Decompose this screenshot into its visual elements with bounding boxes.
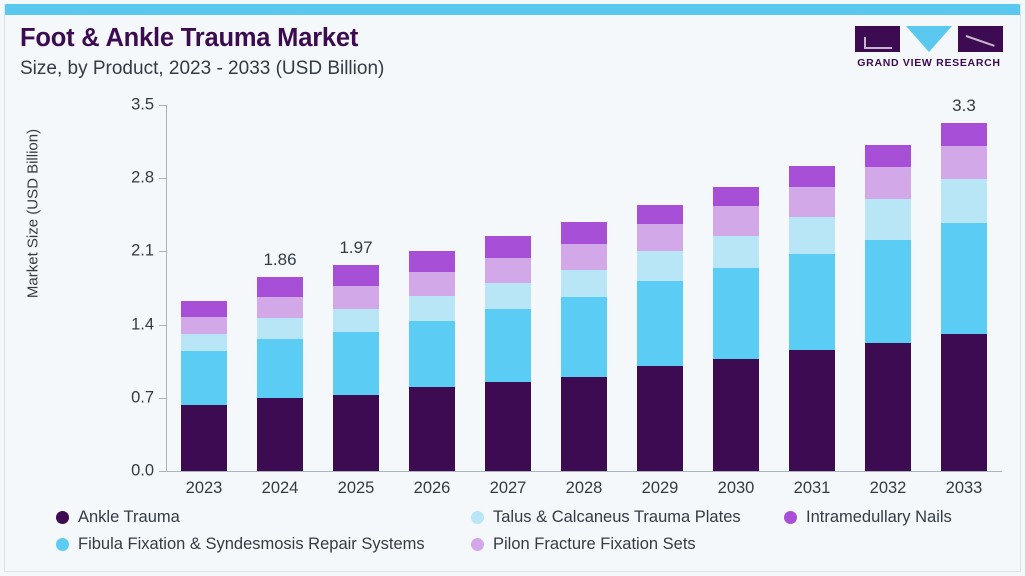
legend-item-label: Talus & Calcaneus Trauma Plates (493, 508, 741, 527)
bar-segment[interactable] (637, 251, 683, 280)
y-axis-tick-mark (159, 178, 166, 179)
bar-segment[interactable] (409, 321, 455, 387)
x-axis-tick-label: 2029 (642, 479, 679, 498)
legend-color-swatch-icon (471, 538, 484, 551)
x-axis-line (166, 471, 1002, 472)
legend-item-label: Pilon Fracture Fixation Sets (493, 535, 696, 554)
stacked-bar[interactable] (789, 166, 835, 471)
legend-item-label: Ankle Trauma (78, 508, 180, 527)
legend-item[interactable]: Intramedullary Nails (784, 508, 952, 527)
x-axis-tick-label: 2032 (870, 479, 907, 498)
stacked-bar[interactable] (409, 251, 455, 471)
bar-segment[interactable] (333, 265, 379, 286)
legend-item[interactable]: Ankle Trauma (56, 508, 180, 527)
y-axis-tick-mark (159, 105, 166, 106)
x-axis-tick-label: 2026 (414, 479, 451, 498)
bar-segment[interactable] (409, 272, 455, 296)
y-axis-tick-label: 0.0 (106, 462, 154, 481)
bar-segment[interactable] (637, 205, 683, 224)
bar-segment[interactable] (257, 277, 303, 298)
bar-segment[interactable] (485, 283, 531, 309)
legend-item-label: Intramedullary Nails (806, 508, 952, 527)
bar-segment[interactable] (941, 123, 987, 146)
x-axis-tick-label: 2028 (566, 479, 603, 498)
bar-segment[interactable] (789, 254, 835, 350)
legend-item[interactable]: Pilon Fracture Fixation Sets (471, 535, 696, 554)
y-axis-tick-label: 0.7 (106, 388, 154, 407)
legend-color-swatch-icon (784, 511, 797, 524)
bar-segment[interactable] (789, 217, 835, 254)
bar-value-label: 1.97 (339, 238, 372, 258)
infographic-root: Foot & Ankle Trauma Market Size, by Prod… (0, 0, 1025, 576)
bar-segment[interactable] (561, 244, 607, 270)
stacked-bar[interactable] (181, 301, 227, 471)
bar-segment[interactable] (333, 309, 379, 332)
legend-item-label: Fibula Fixation & Syndesmosis Repair Sys… (78, 535, 425, 554)
bar-segment[interactable] (941, 146, 987, 179)
stacked-bar[interactable] (865, 145, 911, 471)
bar-segment[interactable] (409, 296, 455, 321)
bar-segment[interactable] (865, 167, 911, 199)
x-axis-tick-label: 2030 (718, 479, 755, 498)
bar-value-label: 3.3 (952, 96, 976, 116)
y-axis-tick-mark (159, 398, 166, 399)
bar-segment[interactable] (713, 268, 759, 359)
legend-color-swatch-icon (471, 511, 484, 524)
bar-segment[interactable] (181, 405, 227, 471)
x-axis-tick-label: 2031 (794, 479, 831, 498)
bar-segment[interactable] (637, 224, 683, 251)
x-axis-tick-label: 2033 (946, 479, 983, 498)
bar-segment[interactable] (333, 286, 379, 309)
bar-segment[interactable] (789, 166, 835, 187)
stacked-bar[interactable] (561, 222, 607, 471)
x-axis-tick-label: 2027 (490, 479, 527, 498)
stacked-bar[interactable] (713, 187, 759, 471)
bar-segment[interactable] (941, 334, 987, 471)
y-axis-tick-label: 3.5 (106, 96, 154, 115)
bar-segment[interactable] (333, 332, 379, 395)
y-axis-tick-label: 1.4 (106, 315, 154, 334)
bar-segment[interactable] (257, 398, 303, 471)
bar-segment[interactable] (485, 258, 531, 283)
y-axis-tick-mark (159, 251, 166, 252)
bar-value-label: 1.86 (263, 250, 296, 270)
y-axis-tick-mark (159, 471, 166, 472)
stacked-bar[interactable] (637, 205, 683, 471)
bar-segment[interactable] (941, 179, 987, 223)
bar-segment[interactable] (941, 223, 987, 334)
bar-segment[interactable] (561, 270, 607, 297)
bar-segment[interactable] (485, 309, 531, 382)
legend-color-swatch-icon (56, 511, 69, 524)
bar-segment[interactable] (181, 334, 227, 351)
stacked-bar[interactable]: 1.86 (257, 277, 303, 471)
y-axis-tick-label: 2.8 (106, 169, 154, 188)
bar-segment[interactable] (257, 318, 303, 339)
y-axis-title: Market Size (USD Billion) (25, 89, 42, 339)
bar-segment[interactable] (865, 199, 911, 240)
bar-segment[interactable] (561, 377, 607, 471)
y-axis-tick-mark (159, 325, 166, 326)
bar-segment[interactable] (485, 382, 531, 471)
stacked-bar[interactable] (485, 236, 531, 471)
x-axis-tick-label: 2024 (262, 479, 299, 498)
bar-segment[interactable] (713, 187, 759, 207)
x-axis-tick-label: 2025 (338, 479, 375, 498)
legend-item[interactable]: Fibula Fixation & Syndesmosis Repair Sys… (56, 535, 425, 554)
bar-segment[interactable] (713, 206, 759, 235)
bar-segment[interactable] (181, 317, 227, 334)
bar-segment[interactable] (257, 297, 303, 318)
bar-segment[interactable] (409, 251, 455, 272)
bar-segment[interactable] (789, 187, 835, 217)
bar-segment[interactable] (409, 387, 455, 471)
x-axis-tick-label: 2023 (186, 479, 223, 498)
bar-segment[interactable] (637, 281, 683, 367)
bar-segment[interactable] (561, 297, 607, 376)
stacked-bar[interactable]: 3.3 (941, 123, 987, 471)
bar-segment[interactable] (485, 236, 531, 258)
stacked-bar[interactable]: 1.97 (333, 265, 379, 471)
y-axis-tick-label: 2.1 (106, 242, 154, 261)
stacked-bar-chart: Market Size (USD Billion) 0.00.71.42.12.… (0, 0, 1025, 576)
bar-segment[interactable] (865, 240, 911, 344)
bar-segment[interactable] (789, 350, 835, 471)
bar-segment[interactable] (257, 339, 303, 398)
chart-legend: Ankle TraumaFibula Fixation & Syndesmosi… (56, 508, 1006, 560)
bar-segment[interactable] (561, 222, 607, 244)
bar-segment[interactable] (333, 395, 379, 471)
y-axis-line (166, 105, 167, 471)
legend-color-swatch-icon (56, 538, 69, 551)
bar-segment[interactable] (865, 145, 911, 167)
bar-segment[interactable] (181, 351, 227, 405)
bar-segment[interactable] (865, 343, 911, 471)
legend-item[interactable]: Talus & Calcaneus Trauma Plates (471, 508, 741, 527)
bar-segment[interactable] (713, 236, 759, 268)
bar-segment[interactable] (713, 359, 759, 471)
bar-segment[interactable] (181, 301, 227, 318)
bar-segment[interactable] (637, 366, 683, 471)
